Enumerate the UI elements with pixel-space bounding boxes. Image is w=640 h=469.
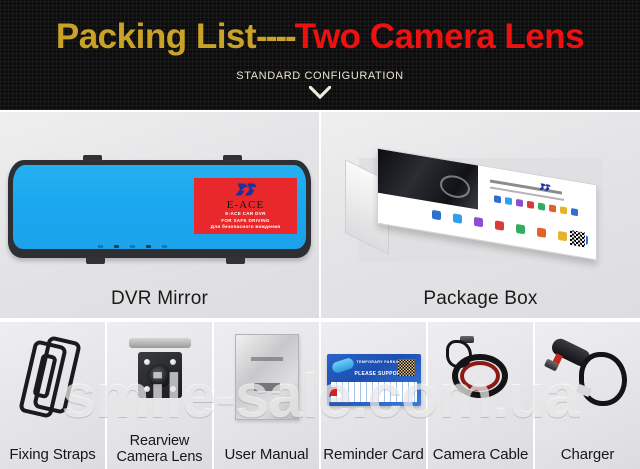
product-panel-package-box[interactable]: Package Box (321, 112, 640, 318)
feature-icon (494, 195, 501, 203)
mirror-button (130, 245, 135, 248)
eace-logo-icon (234, 181, 258, 198)
reminder-card-icon: TEMPORARY PARKING PLEASE SUPPORT US (321, 328, 426, 428)
title-gold-part: Packing List (56, 17, 256, 56)
accessory-label-user-manual: User Manual (214, 447, 319, 463)
header-subtitle: STANDARD CONFIGURATION (0, 70, 640, 82)
car-charger-icon (535, 328, 640, 428)
product-label-dvr-mirror: DVR Mirror (0, 288, 319, 310)
mirror-mount-tab (86, 257, 105, 264)
camera-bracket (129, 338, 191, 348)
accessory-label-charger: Charger (535, 447, 640, 463)
camera-led (144, 359, 150, 365)
mirror-button (114, 245, 119, 248)
accessories-row: Fixing Straps Rearview Camera Lens (0, 322, 640, 469)
rearview-camera-icon (107, 328, 212, 428)
qr-code-icon (398, 359, 415, 376)
manual-booklet (235, 334, 299, 420)
accessory-label-camera-cable: Camera Cable (428, 447, 533, 463)
card-number-grid (331, 382, 417, 402)
title-red-part: Two Camera Lens (295, 17, 584, 56)
feature-icon (538, 203, 545, 211)
camera-led (170, 359, 176, 365)
camera-led (170, 386, 176, 392)
manual-subtitle-line (254, 383, 280, 391)
cable-lead (446, 340, 472, 368)
qr-code-icon (569, 229, 586, 249)
mirror-button (98, 245, 103, 248)
camera-body (138, 352, 182, 398)
camera-cable-icon (428, 328, 533, 428)
feature-icon (432, 210, 441, 221)
accessory-label-reminder-card: Reminder Card (321, 447, 426, 463)
camera-lens (147, 364, 173, 390)
dvr-mirror-image: E-ACE E-ACE CAR DVR FOR SAFE DRIVING Для… (8, 160, 311, 258)
accessory-cell-reminder-card[interactable]: TEMPORARY PARKING PLEASE SUPPORT US Remi… (321, 322, 426, 469)
eace-brand-name: E-ACE (227, 199, 264, 211)
parking-card: TEMPORARY PARKING PLEASE SUPPORT US (327, 354, 421, 406)
feature-icon (571, 208, 578, 216)
card-line-1: TEMPORARY PARKING (357, 360, 404, 364)
chevron-down-icon (309, 86, 331, 99)
featured-products-row: E-ACE E-ACE CAR DVR FOR SAFE DRIVING Для… (0, 112, 640, 318)
accessory-label-rearview-camera: Rearview Camera Lens (107, 433, 212, 465)
mirror-button (162, 245, 167, 248)
feature-icon (560, 206, 567, 214)
mirror-button-row (98, 245, 167, 248)
accessory-label-line1: Rearview (107, 433, 212, 449)
feature-icon (537, 227, 546, 238)
header-banner: Packing List----Two Camera Lens STANDARD… (0, 0, 640, 110)
feature-icon (453, 213, 462, 224)
accessory-label-line2: Camera Lens (107, 449, 212, 465)
title-dash: ---- (256, 17, 295, 56)
accessory-cell-rearview-camera[interactable]: Rearview Camera Lens (107, 322, 212, 469)
accessory-cell-user-manual[interactable]: User Manual (214, 322, 319, 469)
page-title: Packing List----Two Camera Lens (0, 19, 640, 54)
eace-sticker: E-ACE E-ACE CAR DVR FOR SAFE DRIVING Для… (194, 178, 297, 234)
feature-icon (516, 224, 525, 235)
accessory-cell-fixing-straps[interactable]: Fixing Straps (0, 322, 105, 469)
eace-logo-icon (538, 182, 552, 193)
user-manual-icon (214, 328, 319, 428)
feature-icon (549, 204, 556, 212)
fixing-straps-icon (0, 328, 105, 428)
feature-icon (505, 197, 512, 205)
feature-icon (527, 201, 534, 209)
feature-icon (474, 217, 483, 228)
manual-title-line (251, 357, 283, 361)
accessory-cell-camera-cable[interactable]: Camera Cable (428, 322, 533, 469)
product-label-package-box: Package Box (321, 288, 640, 310)
feature-icon (558, 231, 567, 242)
mirror-mount-tab (83, 155, 102, 162)
mirror-mount-tab (226, 257, 245, 264)
accessory-cell-charger[interactable]: Charger (535, 322, 640, 469)
feature-icon (516, 199, 523, 207)
feature-icon (495, 220, 504, 231)
package-box-image (345, 150, 617, 272)
charger-cable-coil (579, 352, 627, 406)
packing-list-page: Packing List----Two Camera Lens STANDARD… (0, 0, 640, 469)
card-red-tab (329, 387, 337, 396)
mirror-mount-tab (223, 155, 242, 162)
mirror-button (146, 245, 151, 248)
accessory-label-fixing-straps: Fixing Straps (0, 447, 105, 463)
camera-led (144, 386, 150, 392)
eace-line-3: Для безопасного вождения (211, 224, 281, 231)
product-panel-dvr-mirror[interactable]: E-ACE E-ACE CAR DVR FOR SAFE DRIVING Для… (0, 112, 319, 318)
card-illustration (330, 357, 354, 374)
